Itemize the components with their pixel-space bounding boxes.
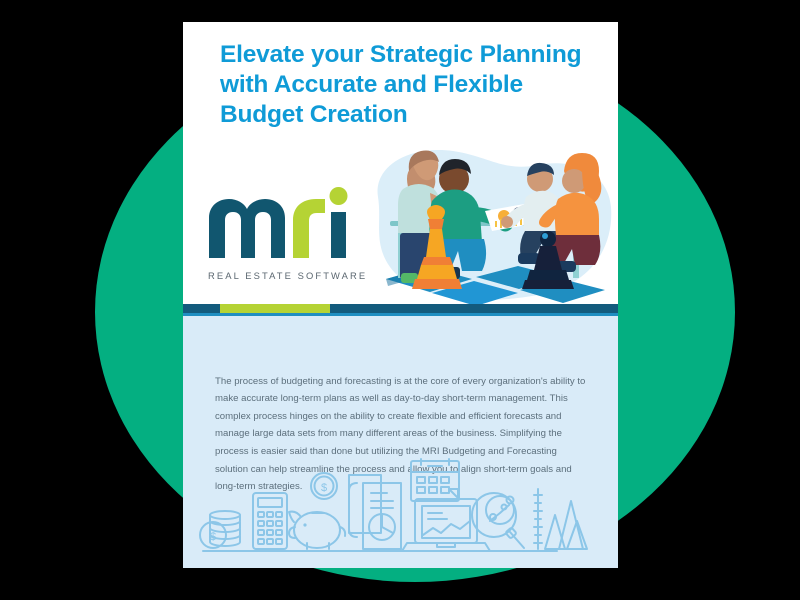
svg-text:$: $ xyxy=(210,531,216,543)
flyer-card: Elevate your Strategic Planning with Acc… xyxy=(183,22,618,568)
accent-bar-lime-segment xyxy=(220,304,330,313)
piggy-bank-icon xyxy=(289,512,345,549)
logo-letter-r xyxy=(293,199,325,258)
flyer-stage: Elevate your Strategic Planning with Acc… xyxy=(0,0,800,600)
mri-logo: REAL ESTATE SOFTWARE xyxy=(201,180,366,290)
svg-text:$: $ xyxy=(321,482,327,494)
logo-letter-m xyxy=(209,199,285,258)
headline-line-3: Budget Creation xyxy=(220,101,408,128)
coins-stack-icon: $ xyxy=(200,511,240,548)
logo-subtitle: REAL ESTATE SOFTWARE xyxy=(208,270,366,281)
accent-bar xyxy=(183,304,618,313)
bar-area-chart-icon xyxy=(534,489,587,549)
page-title: Elevate your Strategic Planning with Acc… xyxy=(220,40,590,130)
calendar-icon xyxy=(411,459,459,501)
magnifier-scatter-icon xyxy=(472,493,524,548)
logo-letter-i-stem xyxy=(331,212,346,258)
hero-illustration xyxy=(368,127,618,317)
logo-letter-i-dot xyxy=(330,187,348,205)
headline-line-2: with Accurate and Flexible xyxy=(220,71,523,98)
calculator-icon xyxy=(253,493,287,549)
laptop-line-chart-icon xyxy=(402,499,490,551)
lower-panel: The process of budgeting and forecasting… xyxy=(183,316,618,568)
finance-icon-strip: $ xyxy=(197,455,605,560)
dollar-coin-icon: $ xyxy=(311,473,337,499)
document-pie-chart-icon xyxy=(349,475,401,549)
headline-line-1: Elevate your Strategic Planning xyxy=(220,41,581,68)
